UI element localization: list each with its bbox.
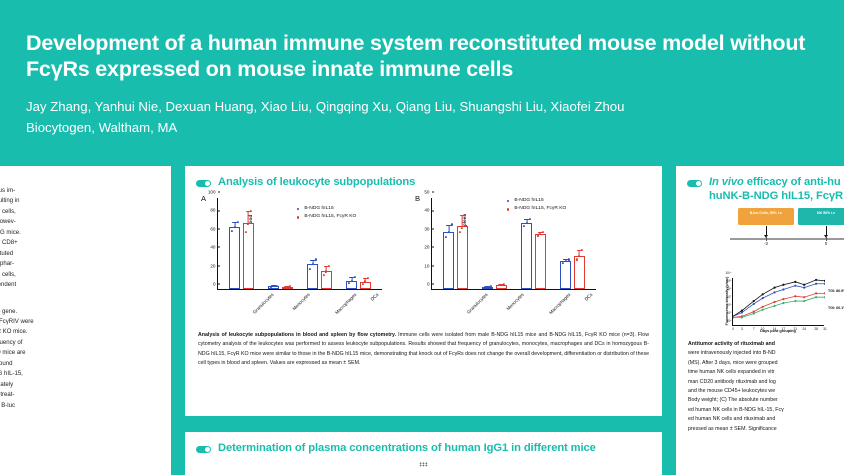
- bar: [521, 223, 532, 289]
- legend-label: B-NDG hIL15, FcγR KO: [514, 205, 566, 213]
- methods-line: e was replaced by human IL15 gene.: [0, 307, 157, 317]
- poster-authors: Jay Zhang, Yanhui Nie, Dexuan Huang, Xia…: [26, 96, 844, 117]
- linechart-marker: [824, 292, 825, 294]
- timeline-day-value: 0: [825, 241, 827, 246]
- y-tick-label: 80: [210, 208, 218, 213]
- panel-header-plasma: Determination of plasma concentrations o…: [185, 432, 662, 455]
- intro-line: s can be reconstituted in B-NDG mice.: [0, 228, 157, 238]
- error-bar: [248, 211, 249, 223]
- chart-B-legend: B-NDG hIL15 B-NDG hIL15, FcγR KO: [507, 197, 566, 213]
- panel-header-leukocyte: Analysis of leukocyte subpopulations: [185, 166, 662, 189]
- methods-line: aging signal reached approximately: [0, 380, 157, 390]
- linechart-marker: [773, 305, 775, 307]
- linechart-marker: [824, 280, 825, 282]
- x-tick-label: Macrophages: [548, 292, 571, 315]
- caption-title: Analysis of leukocyte subpopulations in …: [198, 332, 396, 338]
- bar-holder: [457, 198, 468, 289]
- bar-holder: [482, 198, 493, 289]
- linechart-plot-area: 10⁴10⁵10⁶10⁷10⁸10⁹10¹⁰03710141721242831: [732, 278, 824, 326]
- bar: [457, 226, 468, 289]
- data-point: [353, 276, 355, 278]
- timeline-arrow-icon: [826, 226, 827, 235]
- linechart-marker: [741, 310, 743, 312]
- bar-holder: [282, 198, 293, 289]
- panel-invivo-efficacy: In vivo efficacy of anti-huhuNK-B-NDG hI…: [676, 166, 844, 475]
- legend-label: B-NDG hIL15: [514, 197, 543, 205]
- legend-dot-icon: [507, 200, 509, 202]
- x-tick-label: Macrophages: [334, 292, 357, 315]
- legend-label: B-NDG hIL15: [304, 205, 333, 213]
- panel-plasma-igg1: Determination of plasma concentrations o…: [185, 432, 662, 475]
- data-point: [542, 231, 544, 233]
- y-tick-label: 30: [424, 226, 432, 231]
- linechart-series-svg: [733, 278, 825, 326]
- bar-holder: [243, 198, 254, 289]
- bullet-marker-icon: [687, 180, 702, 187]
- bullet-marker-icon: [196, 180, 211, 187]
- chart-panel-linechart: Fluorescence intensity (p/sec) 10⁴10⁵10⁶…: [716, 276, 841, 336]
- methods-line: mozygous B-NDG hIL15, FcγR KO mice.: [0, 327, 157, 337]
- bar-group: [229, 198, 254, 289]
- timeline-arrow-icon: [766, 226, 767, 235]
- linechart-marker: [762, 297, 764, 299]
- intro-line: stituted in the mouse model. Howev-: [0, 217, 157, 227]
- rcaption-line: ed human NK cells and rituximab and: [688, 415, 844, 424]
- panel-title-leukocyte: Analysis of leukocyte subpopulations: [218, 175, 415, 189]
- intro-paragraph-1: search and for validating various im- rg…: [0, 186, 157, 291]
- chart-A-legend: B-NDG hIL15 B-NDG hIL15, FcγR KO: [297, 205, 356, 221]
- linechart-marker: [773, 291, 775, 293]
- linechart-marker: [803, 296, 805, 298]
- methods-line: to the mice and the mice were treat-: [0, 390, 157, 400]
- methods-line: ouse) showed that rituximab-bound: [0, 359, 157, 369]
- intro-line: ssed on mouse innate immune cells,: [0, 270, 157, 280]
- linechart-line: [733, 284, 825, 317]
- linechart-annotation: TGI: 86.9%: [828, 289, 844, 293]
- experiment-timeline: B-luc Cells, 50% i.v. NK 50% i.v Day -3 …: [720, 208, 844, 270]
- linechart-marker: [762, 309, 764, 311]
- linechart-marker: [803, 287, 805, 289]
- data-point: [314, 258, 316, 260]
- bar-holder: [574, 198, 585, 289]
- linechart-marker: [815, 283, 817, 285]
- linechart-marker: [741, 316, 743, 318]
- methods-line: b was efficacious in controlling B-luc: [0, 401, 157, 411]
- rcaption-line: and the mouse CD45+ leukocytes we: [688, 387, 844, 396]
- bar-holder: [360, 198, 371, 289]
- timeline-box-nk: NK 50% i.v: [798, 208, 844, 225]
- linechart-marker: [753, 300, 755, 302]
- x-tick-label: DCs: [370, 292, 380, 302]
- poster-root: Development of a human immune system rec…: [0, 0, 844, 475]
- linechart-marker: [773, 287, 775, 289]
- linechart-marker: [773, 301, 775, 303]
- error-bar: [462, 215, 463, 226]
- linechart-marker: [794, 285, 796, 287]
- data-point: [567, 258, 569, 260]
- linechart-marker: [794, 300, 796, 302]
- panel-header-invivo: In vivo efficacy of anti-huhuNK-B-NDG hI…: [676, 166, 844, 203]
- methods-line: ravenously injected into B-NDG hIL-15,: [0, 369, 157, 379]
- bar-group: [268, 198, 293, 289]
- methods-line: een of B-NDG hIL15, FcγR KO mice are: [0, 348, 157, 358]
- linechart-marker: [794, 281, 796, 283]
- bar-group: [443, 198, 468, 289]
- intro-paragraph-2: e was replaced by human IL15 gene. a Fcγ…: [0, 307, 157, 412]
- figure-caption-invivo: Antitumor activity of rituximab and were…: [676, 336, 844, 434]
- bar: [560, 261, 571, 289]
- x-tick-label: DCs: [584, 292, 594, 302]
- bullet-marker-icon: [196, 446, 211, 453]
- x-tick-label: Monocytes: [291, 292, 310, 311]
- linechart-marker: [782, 302, 784, 304]
- rcaption-line: time human NK cells expanded in vitr: [688, 368, 844, 377]
- timeline-box-label: B-luc Cells, 50% i.v.: [750, 211, 783, 215]
- linechart-marker: [782, 288, 784, 290]
- chart-A-xtick-labels: GranulocytesMonocytesMacrophagesDCs: [217, 290, 382, 326]
- x-tick-label: Granulocytes: [252, 292, 275, 315]
- methods-line: a FcγRI, FcγRIIb, FcγRIII and FcγRIV wer…: [0, 317, 157, 327]
- y-tick-label: 100: [208, 190, 218, 195]
- linechart-y-tick: 10¹⁰: [726, 271, 733, 275]
- linechart-marker: [782, 298, 784, 300]
- data-point: [236, 221, 238, 223]
- intro-line: rg gene in NOD scid mice, resulting in: [0, 196, 157, 206]
- linechart-marker: [753, 312, 755, 314]
- panel-title-invivo: In vivo efficacy of anti-huhuNK-B-NDG hI…: [709, 175, 843, 203]
- intro-line: out retains most of the myeloid cells,: [0, 207, 157, 217]
- linechart-marker: [824, 283, 825, 285]
- data-point: [250, 210, 252, 212]
- data-point: [528, 218, 530, 220]
- bar-group: [482, 198, 507, 289]
- intro-line: omotes the survival of memory CD8+: [0, 238, 157, 248]
- linechart-marker: [815, 296, 817, 298]
- linechart-marker: [753, 303, 755, 305]
- linechart-marker: [803, 300, 805, 302]
- bar: [535, 234, 546, 289]
- rcaption-line: Body weight; (C) The absolute number: [688, 396, 844, 405]
- intro-line: a mouse model with a reconstituted: [0, 249, 157, 259]
- bar: [574, 256, 585, 289]
- linechart-xlabel: Days post grouping: [732, 329, 824, 333]
- linechart-marker: [741, 311, 743, 313]
- panel-introduction: search and for validating various im- rg…: [0, 166, 171, 475]
- bar: [443, 232, 454, 289]
- bar-holder: [443, 198, 454, 289]
- rcaption-line: pressed as mean ± SEM. Significance: [688, 425, 844, 434]
- linechart-marker: [815, 292, 817, 294]
- bar-holder: [268, 198, 279, 289]
- bar-holder: [229, 198, 240, 289]
- figure-caption-leukocyte: Analysis of leukocyte subpopulations in …: [185, 331, 662, 369]
- timeline-box-label: NK 50% i.v: [817, 211, 835, 215]
- panel-title-invivo-line2: huNK-B-NDG hIL15, FcγR: [709, 190, 843, 202]
- rcaption-line: man CD20 antibody rituximab and log: [688, 378, 844, 387]
- poster-title-line1: Development of a human immune system rec…: [26, 30, 844, 56]
- legend-dot-icon: [297, 216, 299, 218]
- rcaption-title: Antitumor activity of rituximab and: [688, 341, 775, 347]
- y-tick-label: 10: [424, 263, 432, 268]
- legend-dot-icon: [297, 208, 299, 210]
- panel-title-plasma: Determination of plasma concentrations o…: [218, 441, 596, 455]
- poster-header: Development of a human immune system rec…: [0, 0, 844, 158]
- linechart-marker: [762, 306, 764, 308]
- linechart-marker: [803, 284, 805, 286]
- bar: [229, 227, 240, 289]
- linechart-line: [733, 293, 825, 317]
- timeline-box-bluc: B-luc Cells, 50% i.v.: [738, 208, 794, 225]
- x-tick-label: Monocytes: [505, 292, 524, 311]
- rcaption-line: (MS). After 3 days, mice were grouped: [688, 359, 844, 368]
- legend-entry: B-NDG hIL15: [297, 205, 356, 213]
- y-tick-label: 20: [424, 245, 432, 250]
- y-tick-label: 60: [210, 226, 218, 231]
- poster-affiliation: Biocytogen, Waltham, MA: [26, 117, 844, 138]
- data-point: [328, 265, 330, 267]
- rcaption-line: ed human NK cells in B-NDG hIL-15, Fcγ: [688, 406, 844, 415]
- data-point: [450, 224, 452, 226]
- data-point: [464, 214, 466, 216]
- legend-dot-icon: [507, 208, 509, 210]
- charts-container: A % in CD45+ cells of blood 020406080100…: [185, 193, 662, 328]
- panel-title-invivo-italic: In vivo: [709, 176, 744, 188]
- legend-entry: B-NDG hIL15: [507, 197, 566, 205]
- linechart-marker: [762, 293, 764, 295]
- chart-B-xtick-labels: GranulocytesMonocytesMacrophagesDCs: [431, 290, 596, 326]
- intro-line: neutralization or antibody-dependent: [0, 280, 157, 290]
- linechart-marker: [815, 279, 817, 281]
- bar-holder: [496, 198, 507, 289]
- intro-line: l human immune cells to exert phar-: [0, 259, 157, 269]
- x-tick-label: Granulocytes: [466, 292, 489, 315]
- timeline-day-value: -3: [764, 241, 768, 246]
- panel-title-invivo-rest: efficacy of anti-hu: [744, 176, 841, 188]
- paragraph-spacer: [0, 291, 157, 307]
- y-tick-label: 40: [424, 208, 432, 213]
- linechart-marker: [782, 284, 784, 286]
- y-tick-label: 40: [210, 245, 218, 250]
- data-point: [581, 249, 583, 251]
- methods-line: n B-NDG hIL15 mice. The frequency of: [0, 338, 157, 348]
- linechart-marker: [753, 311, 755, 313]
- poster-title-line2: FcγRs expressed on mouse innate immune c…: [26, 56, 844, 82]
- data-point: [367, 277, 369, 279]
- legend-entry: B-NDG hIL15, FcγR KO: [507, 205, 566, 213]
- legend-entry: B-NDG hIL15, FcγR KO: [297, 213, 356, 221]
- panel-leukocyte-analysis: Analysis of leukocyte subpopulations A %…: [185, 166, 662, 416]
- rcaption-line: were intravenously injected into B-ND: [688, 349, 844, 358]
- linechart-marker: [824, 296, 825, 298]
- plasma-chart-placeholder: ‡‡‡: [185, 462, 662, 468]
- linechart-annotation: TGI: 66.1%: [828, 306, 844, 310]
- linechart-marker: [794, 295, 796, 297]
- y-tick-label: 20: [210, 263, 218, 268]
- y-tick-label: 50: [424, 190, 432, 195]
- legend-label: B-NDG hIL15, FcγR KO: [304, 213, 356, 221]
- intro-line: search and for validating various im-: [0, 186, 157, 196]
